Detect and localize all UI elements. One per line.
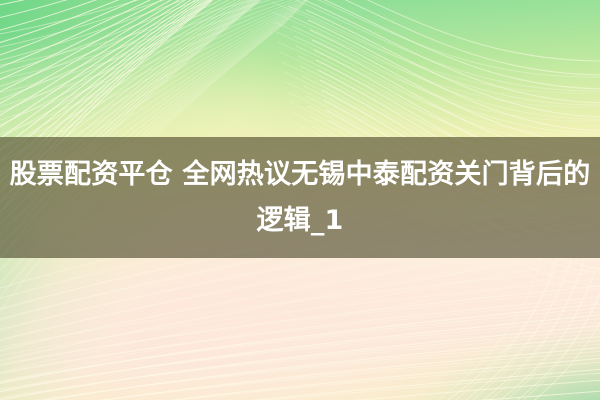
headline-text: 股票配资平仓 全网热议无锡中泰配资关门背后的逻辑_1 — [0, 152, 600, 244]
banner-image: 股票配资平仓 全网热议无锡中泰配资关门背后的逻辑_1 — [0, 0, 600, 400]
headline-band: 股票配资平仓 全网热议无锡中泰配资关门背后的逻辑_1 — [0, 137, 600, 258]
